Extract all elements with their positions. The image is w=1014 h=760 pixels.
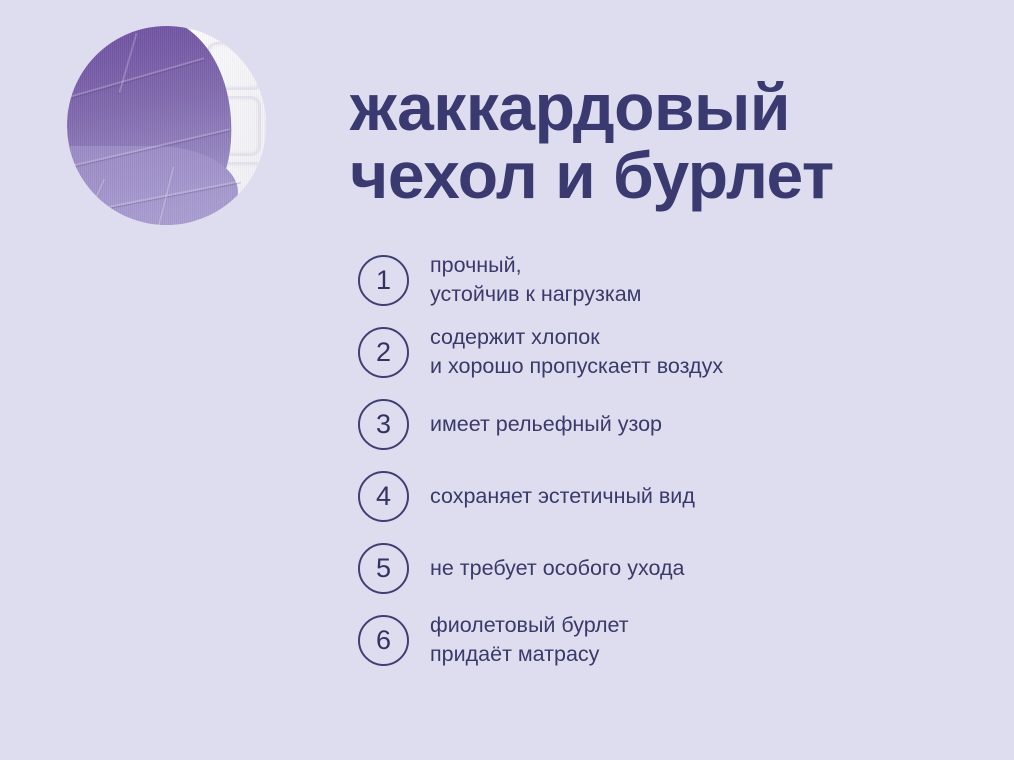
page-title: жаккардовый чехол и бурлет <box>350 74 1000 209</box>
benefit-text: содержит хлопок и хорошо пропускаетт воз… <box>430 323 723 380</box>
benefit-text: имеет рельефный узор <box>430 410 662 439</box>
benefit-number-badge: 3 <box>358 399 409 450</box>
benefit-text: фиолетовый бурлет придаёт матрасу <box>430 611 629 668</box>
quilt-relief-cell <box>265 112 266 170</box>
list-item: 3 имеет рельефный узор <box>358 388 978 460</box>
benefit-number-badge: 4 <box>358 471 409 522</box>
page-title-line-1: жаккардовый <box>350 74 1000 141</box>
benefits-list: 1 прочный, устойчив к нагрузкам 2 содерж… <box>358 244 978 676</box>
list-item: 4 сохраняет эстетичный вид <box>358 460 978 532</box>
list-item: 2 содержит хлопок и хорошо пропускаетт в… <box>358 316 978 388</box>
list-item: 1 прочный, устойчив к нагрузкам <box>358 244 978 316</box>
benefit-number-badge: 6 <box>358 615 409 666</box>
product-photo-circle <box>67 26 266 225</box>
list-item: 5 не требует особого ухода <box>358 532 978 604</box>
list-item: 6 фиолетовый бурлет придаёт матрасу <box>358 604 978 676</box>
benefit-number-badge: 5 <box>358 543 409 594</box>
benefit-number-badge: 2 <box>358 327 409 378</box>
page-title-line-2: чехол и бурлет <box>350 142 1000 209</box>
benefit-text: сохраняет эстетичный вид <box>430 482 695 511</box>
infographic-poster: жаккардовый чехол и бурлет 1 прочный, ус… <box>0 0 1014 760</box>
benefit-text: не требует особого ухода <box>430 554 684 583</box>
benefit-text: прочный, устойчив к нагрузкам <box>430 251 641 308</box>
benefit-number-badge: 1 <box>358 255 409 306</box>
